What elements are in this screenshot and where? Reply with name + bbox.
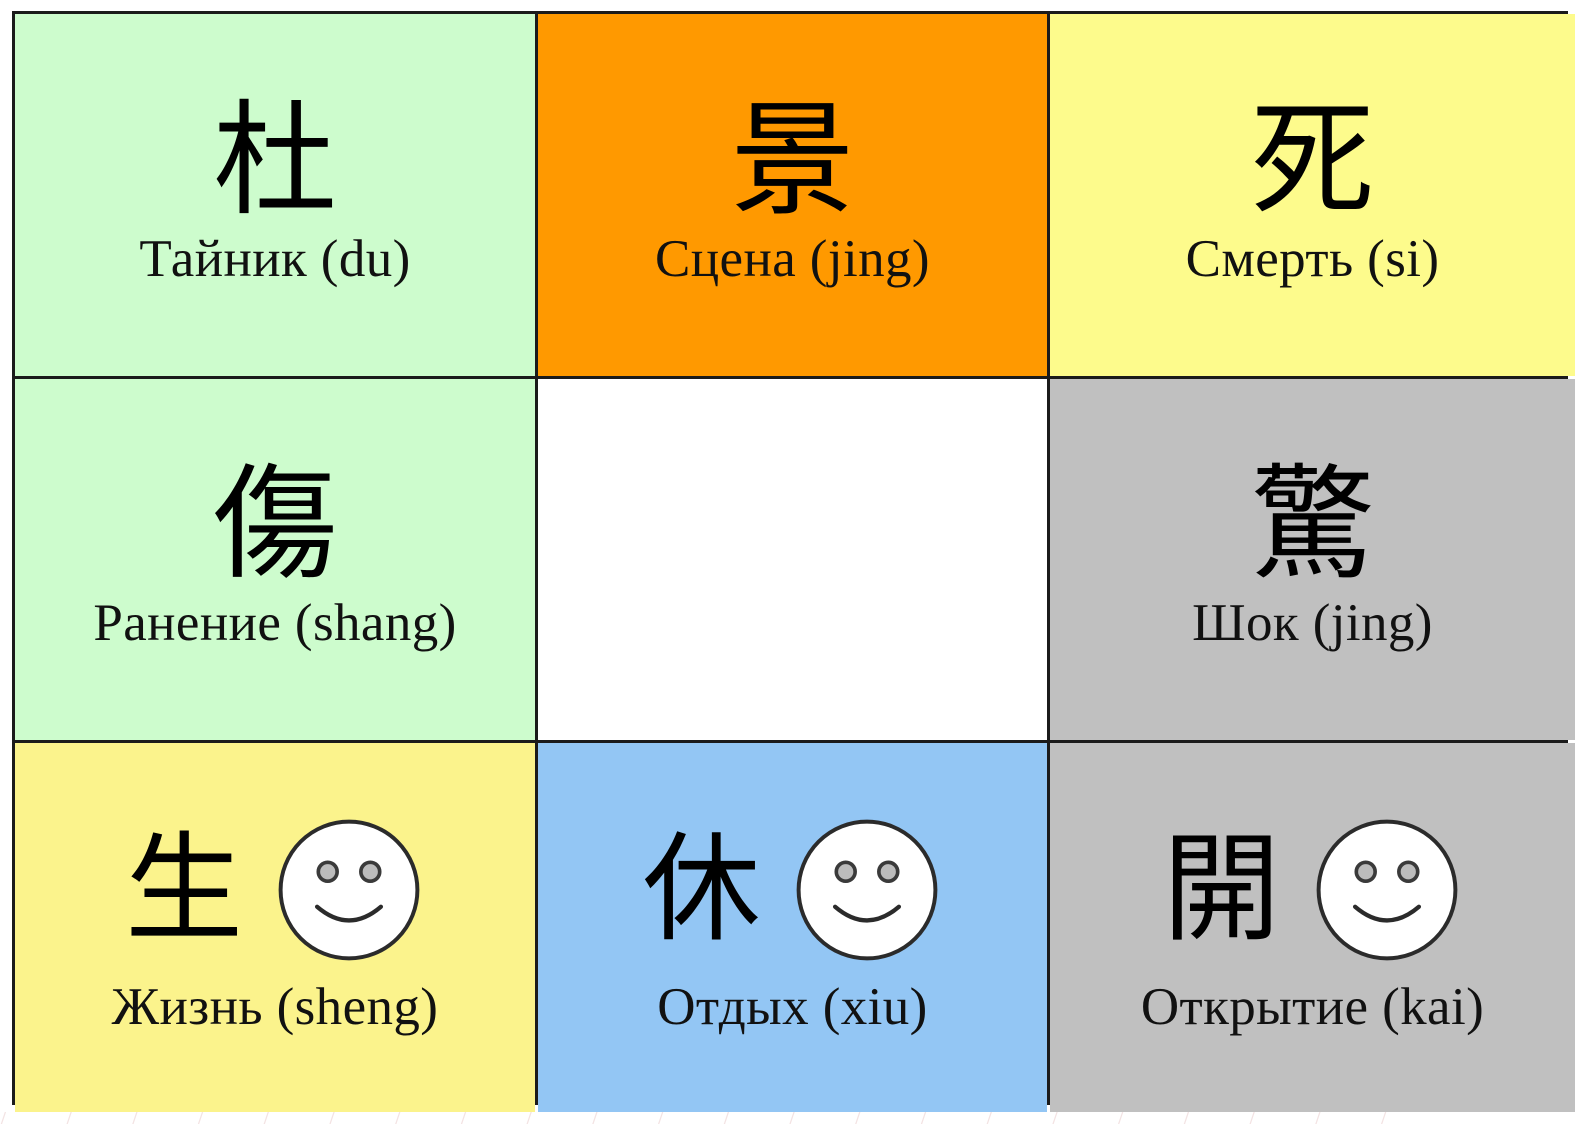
glyph-row: 傷 [213,461,337,590]
smiley-face-icon [273,814,425,966]
grid-cell-center-empty[interactable] [538,379,1047,740]
cell-body: 驚 Шок (jing) [1050,379,1575,740]
smiley-face-icon [791,814,943,966]
glyph-row: 杜 [213,97,337,226]
grid-cell-jing-shock[interactable]: 驚 Шок (jing) [1050,379,1575,740]
cell-body: 杜 Тайник (du) [15,14,535,376]
cell-body: 傷 Ранение (shang) [15,379,535,740]
hanzi-kai: 開 [1162,828,1280,951]
watermark-strip: / / / / / / / / / / / / / / / / / / / / … [0,1112,1582,1124]
caption-sheng: Жизнь (sheng) [112,980,439,1036]
hanzi-jing-shock: 驚 [1250,461,1374,590]
cell-body: 休 Отдых (xiu) [538,743,1047,1112]
cell-body: 死 Смерть (si) [1050,14,1575,376]
hanzi-du: 杜 [213,97,337,226]
hanzi-si: 死 [1250,97,1374,226]
grid-cell-kai[interactable]: 開 Открытие (kai) [1050,743,1575,1112]
glyph-row: 生 [125,814,425,966]
glyph-row: 死 [1250,97,1374,226]
caption-kai: Открытие (kai) [1141,980,1484,1036]
glyph-row: 休 [642,814,942,966]
caption-jing-scene: Сцена (jing) [655,232,930,288]
ba-men-grid: 杜 Тайник (du) 景 Сцена (jing) 死 Смерть (s… [12,11,1568,1105]
caption-xiu: Отдых (xiu) [657,980,928,1036]
hanzi-jing-scene: 景 [730,97,854,226]
glyph-row: 驚 [1250,461,1374,590]
smiley-slot [1311,814,1463,966]
glyph-row: 景 [730,97,854,226]
cell-body: 生 Жизнь (sheng) [15,743,535,1112]
smiley-slot [791,814,943,966]
grid-cell-si[interactable]: 死 Смерть (si) [1050,14,1575,376]
cell-body: 景 Сцена (jing) [538,14,1047,376]
figure-root: 杜 Тайник (du) 景 Сцена (jing) 死 Смерть (s… [0,0,1582,1124]
caption-shang: Ранение (shang) [93,596,456,652]
cell-body [538,379,1047,740]
grid-cell-sheng[interactable]: 生 Жизнь (sheng) [15,743,535,1112]
cell-body: 開 Открытие (kai) [1050,743,1575,1112]
caption-jing-shock: Шок (jing) [1192,596,1433,652]
grid-cell-du[interactable]: 杜 Тайник (du) [15,14,535,376]
hanzi-xiu: 休 [642,828,760,951]
glyph-row: 開 [1162,814,1462,966]
grid-cell-shang[interactable]: 傷 Ранение (shang) [15,379,535,740]
smiley-face-icon [1311,814,1463,966]
caption-si: Смерть (si) [1186,232,1440,288]
grid-cell-xiu[interactable]: 休 Отдых (xiu) [538,743,1047,1112]
caption-du: Тайник (du) [139,232,410,288]
hanzi-sheng: 生 [125,828,243,951]
hanzi-shang: 傷 [213,461,337,590]
smiley-slot [273,814,425,966]
grid-cell-jing-scene[interactable]: 景 Сцена (jing) [538,14,1047,376]
